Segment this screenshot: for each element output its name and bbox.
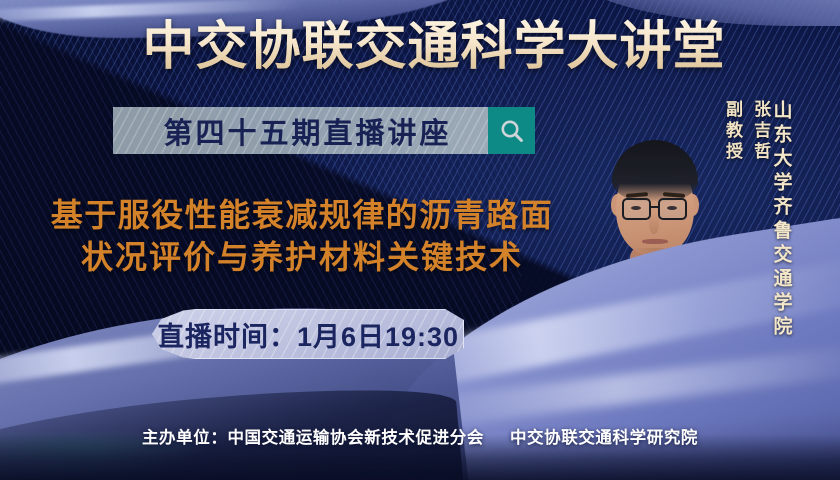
episode-banner: 第四十五期直播讲座 <box>113 107 535 154</box>
speaker-rank: 副教授 <box>723 100 742 163</box>
episode-label: 第四十五期直播讲座 <box>113 107 488 154</box>
portrait-hair-fringe <box>618 156 692 178</box>
lecture-title: 基于服役性能衰减规律的沥青路面 状况评价与养护材料关键技术 <box>22 194 582 278</box>
portrait-glasses-left-lens <box>622 198 651 220</box>
organizer-name-1: 中国交通运输协会新技术促进分会 <box>227 429 484 447</box>
organizer-label: 主办单位： <box>142 429 228 447</box>
portrait-glasses-right-lens <box>658 198 687 220</box>
lecture-title-line-1: 基于服役性能衰减规律的沥青路面 <box>22 194 582 236</box>
speaker-affiliation: 山东大学齐鲁交通学院 <box>766 100 795 340</box>
broadcast-time-badge: 直播时间：1月6日19:30 <box>152 309 464 359</box>
organizer-name-2: 中交协联交通科学研究院 <box>510 429 698 447</box>
portrait-nose <box>649 214 659 234</box>
page-title: 中交协联交通科学大讲堂 <box>0 16 840 78</box>
footer-organizers: 主办单位：中国交通运输协会新技术促进分会中交协联交通科学研究院 <box>0 424 840 448</box>
portrait-glasses-bridge <box>651 206 659 208</box>
lecture-title-line-2: 状况评价与养护材料关键技术 <box>22 236 582 278</box>
webinar-poster: 中交协联交通科学大讲堂 第四十五期直播讲座 基于服役性能衰减规律的沥青路面 状况… <box>0 0 840 480</box>
search-button[interactable] <box>488 107 535 154</box>
search-icon <box>499 118 525 144</box>
broadcast-time-text: 直播时间：1月6日19:30 <box>157 315 459 354</box>
portrait-mouth <box>642 239 668 244</box>
